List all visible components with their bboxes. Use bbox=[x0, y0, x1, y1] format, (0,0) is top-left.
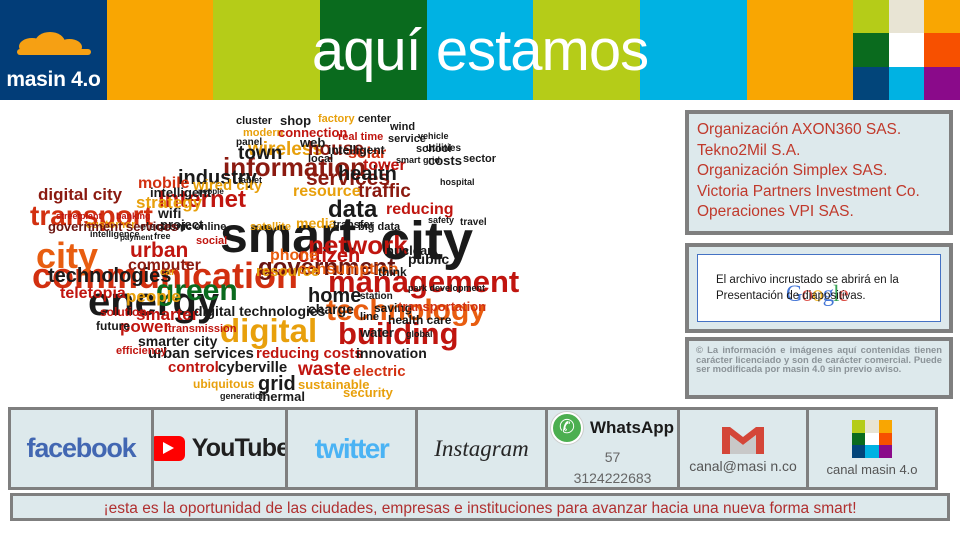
word-cloud-term: people bbox=[198, 188, 224, 196]
word-cloud-term: real time bbox=[338, 132, 383, 143]
word-cloud-term: street bbox=[56, 212, 81, 221]
masin-logo: masin 4.o bbox=[0, 0, 107, 100]
masin-grid-cell-0 bbox=[852, 420, 865, 433]
tagline-text: ¡esta es la oportunidad de las ciudades,… bbox=[10, 495, 950, 522]
gmail-label: canal@masi n.co bbox=[689, 459, 797, 474]
organization-line-1: Tekno2Mil S.A. bbox=[697, 141, 941, 162]
word-cloud-term: control bbox=[168, 360, 219, 375]
word-cloud-term: global bbox=[406, 330, 433, 339]
social-media-bar: facebook YouTube twitter Instagram ✆ Wha… bbox=[8, 407, 953, 490]
social-cell-facebook[interactable]: facebook bbox=[8, 407, 154, 490]
word-cloud-term: people bbox=[126, 288, 181, 305]
header-grid-cell-2 bbox=[924, 0, 960, 33]
header-band-7 bbox=[747, 0, 853, 100]
word-cloud-term: connection bbox=[278, 126, 347, 139]
masin-grid-cell-5 bbox=[879, 433, 892, 446]
organization-line-3: Victoria Partners Investment Co. bbox=[697, 182, 941, 203]
masin-channel-icon bbox=[852, 420, 892, 458]
youtube-play-icon bbox=[151, 436, 185, 461]
word-cloud-term: social bbox=[196, 236, 227, 247]
word-cloud-term: efficiency bbox=[116, 346, 167, 357]
word-cloud-term: center bbox=[358, 114, 391, 125]
word-cloud-image: smartcitycommunicationenergymanagementte… bbox=[8, 106, 676, 402]
word-cloud-term: cluster bbox=[236, 116, 272, 127]
header-grid-cell-8 bbox=[924, 67, 960, 100]
word-cloud-term: transmission bbox=[168, 324, 236, 335]
word-cloud-term: health care bbox=[388, 314, 451, 326]
word-cloud-term: travel bbox=[460, 218, 487, 228]
whatsapp-icon: ✆ bbox=[551, 412, 583, 444]
word-cloud-term: digital technologies bbox=[194, 304, 325, 318]
word-cloud-term: phone bbox=[270, 248, 318, 264]
word-cloud-term: teletopia bbox=[60, 286, 126, 302]
header-band-3 bbox=[320, 0, 427, 100]
instagram-logo: Instagram bbox=[434, 436, 529, 462]
social-cell-instagram[interactable]: Instagram bbox=[415, 407, 548, 490]
gmail-icon bbox=[720, 423, 766, 456]
header-band-2 bbox=[213, 0, 320, 100]
social-cell-twitter[interactable]: twitter bbox=[285, 407, 418, 490]
social-cell-masin-channel[interactable]: canal masin 4.o bbox=[806, 407, 938, 490]
word-cloud-term: utilities bbox=[426, 144, 461, 154]
header-band-6 bbox=[640, 0, 747, 100]
word-cloud-term: satellite bbox=[250, 222, 291, 233]
masin-grid-cell-6 bbox=[852, 445, 865, 458]
twitter-logo: twitter bbox=[315, 433, 389, 465]
organization-line-4: Operaciones VPI SAS. bbox=[697, 202, 941, 223]
word-cloud-term: park development bbox=[408, 284, 485, 293]
word-cloud-term: solution bbox=[100, 306, 147, 318]
slide-canvas: masin 4.o aquí estamos smartcitycommunic… bbox=[0, 0, 960, 540]
header-grid-cell-6 bbox=[853, 67, 889, 100]
word-cloud-term: vehicle bbox=[418, 132, 449, 141]
word-cloud-term: payment bbox=[120, 234, 153, 242]
youtube-label: YouTube bbox=[192, 434, 288, 463]
masin-grid-logo bbox=[853, 0, 960, 100]
header-grid-cell-7 bbox=[889, 67, 925, 100]
word-cloud-term: factory bbox=[318, 114, 355, 125]
word-cloud-term: wind bbox=[390, 122, 415, 133]
word-cloud-term: think bbox=[378, 266, 407, 278]
social-cell-gmail[interactable]: canal@masi n.co bbox=[677, 407, 809, 490]
embedded-file-inner[interactable]: Google El archivo incrustado se abrirá e… bbox=[697, 254, 941, 322]
word-cloud-term: future bbox=[96, 320, 130, 332]
whatsapp-country-code: 57 bbox=[605, 449, 621, 465]
word-cloud-term: transportation bbox=[398, 300, 486, 313]
word-cloud-term: ubiquitous bbox=[193, 378, 254, 390]
header-band-1 bbox=[107, 0, 213, 100]
cloud-icon bbox=[17, 33, 91, 55]
header-banner: masin 4.o aquí estamos bbox=[0, 0, 960, 100]
word-cloud-term: media bbox=[296, 216, 336, 230]
facebook-logo: facebook bbox=[27, 433, 136, 464]
word-cloud-term: costs bbox=[428, 154, 462, 167]
social-cell-whatsapp[interactable]: ✆ WhatsApp 57 3124222683 bbox=[545, 407, 680, 490]
word-cloud-term: resource bbox=[293, 184, 361, 200]
word-cloud-term: online bbox=[194, 222, 226, 233]
word-cloud-term: plant bbox=[80, 212, 102, 221]
header-band-4 bbox=[427, 0, 533, 100]
word-cloud-term: resource bbox=[256, 264, 319, 279]
whatsapp-number: 3124222683 bbox=[574, 470, 652, 486]
embedded-file-panel[interactable]: Google El archivo incrustado se abrirá e… bbox=[685, 243, 953, 333]
organization-line-2: Organización Simplex SAS. bbox=[697, 161, 941, 182]
masin-grid-cell-7 bbox=[865, 445, 878, 458]
word-cloud-term: panel bbox=[236, 138, 262, 148]
word-cloud-term: intelligent bbox=[328, 144, 385, 156]
header-grid-cell-3 bbox=[853, 33, 889, 66]
word-cloud-term: water bbox=[360, 326, 394, 339]
header-grid-cell-0 bbox=[853, 0, 889, 33]
word-cloud-term: free bbox=[154, 232, 171, 241]
word-cloud-term: innovation bbox=[356, 346, 427, 360]
masin-grid-cell-1 bbox=[865, 420, 878, 433]
word-cloud-term: banking bbox=[116, 212, 151, 221]
word-cloud-term: charge bbox=[308, 302, 354, 316]
header-grid-cell-1 bbox=[889, 0, 925, 33]
social-cell-youtube[interactable]: YouTube bbox=[151, 407, 288, 490]
masin-grid-cell-2 bbox=[879, 420, 892, 433]
organization-line-0: Organización AXON360 SAS. bbox=[697, 120, 941, 141]
copyright-text: © La información e imágenes aquí conteni… bbox=[696, 345, 942, 374]
word-cloud-term: transfer bbox=[333, 220, 374, 231]
word-cloud-term: generation bbox=[220, 392, 266, 401]
embedded-file-text: El archivo incrustado se abrirá en la Pr… bbox=[716, 272, 940, 304]
masin-grid-cell-3 bbox=[852, 433, 865, 446]
masin-channel-label: canal masin 4.o bbox=[826, 462, 917, 477]
header-grid-cell-4 bbox=[889, 33, 925, 66]
word-cloud-term: sector bbox=[463, 154, 496, 165]
whatsapp-label: WhatsApp bbox=[590, 418, 674, 438]
word-cloud-term: nuclear bbox=[386, 244, 432, 257]
masin-grid-cell-8 bbox=[879, 445, 892, 458]
word-cloud-term: safety bbox=[428, 216, 454, 225]
header-band-5 bbox=[533, 0, 640, 100]
word-cloud-term: car bbox=[160, 268, 175, 278]
word-cloud-term: tablet bbox=[238, 176, 262, 185]
brand-name: masin 4.o bbox=[6, 69, 100, 90]
word-cloud-term: security bbox=[343, 386, 393, 399]
masin-grid-cell-4 bbox=[865, 433, 878, 446]
word-cloud-term: digital city bbox=[38, 186, 122, 203]
header-grid-cell-5 bbox=[924, 33, 960, 66]
copyright-panel: © La información e imágenes aquí conteni… bbox=[685, 337, 953, 399]
word-cloud-term: hospital bbox=[440, 178, 475, 187]
organizations-panel: Organización AXON360 SAS.Tekno2Mil S.A.O… bbox=[685, 110, 953, 235]
